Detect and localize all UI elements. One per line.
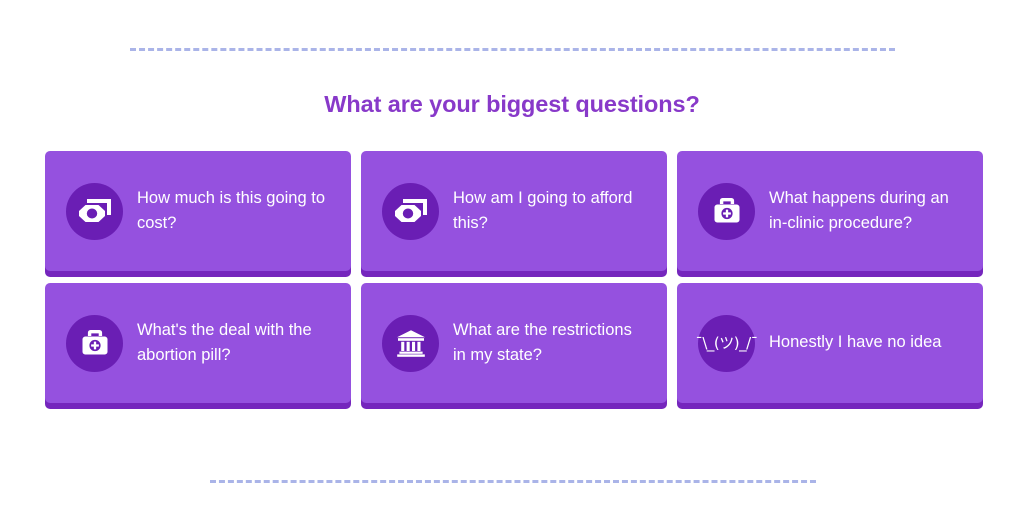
question-card-afford[interactable]: How am I going to afford this?: [361, 151, 667, 271]
question-card-label: What's the deal with the abortion pill?: [137, 318, 332, 368]
bank-building-icon: [382, 315, 439, 372]
question-card-in-clinic[interactable]: What happens during an in-clinic procedu…: [677, 151, 983, 271]
question-card-label: Honestly I have no idea: [769, 330, 941, 355]
question-card-label: How much is this going to cost?: [137, 186, 332, 236]
question-card-cost[interactable]: How much is this going to cost?: [45, 151, 351, 271]
medical-bag-icon: [66, 315, 123, 372]
medical-bag-icon: [698, 183, 755, 240]
bottom-dashed-divider: [210, 480, 816, 483]
shrug-kaomoji-text: ¯\_(ツ)_/¯: [695, 336, 757, 351]
shrug-kaomoji-icon: ¯\_(ツ)_/¯: [698, 315, 755, 372]
money-stack-icon: [66, 183, 123, 240]
question-card-pill[interactable]: What's the deal with the abortion pill?: [45, 283, 351, 403]
question-card-label: How am I going to afford this?: [453, 186, 648, 236]
page-title: What are your biggest questions?: [0, 91, 1024, 118]
question-card-label: What happens during an in-clinic procedu…: [769, 186, 964, 236]
question-card-restrictions[interactable]: What are the restrictions in my state?: [361, 283, 667, 403]
top-dashed-divider: [130, 48, 895, 51]
money-stack-icon: [382, 183, 439, 240]
question-card-label: What are the restrictions in my state?: [453, 318, 648, 368]
question-card-no-idea[interactable]: ¯\_(ツ)_/¯ Honestly I have no idea: [677, 283, 983, 403]
question-card-grid: How much is this going to cost? How am I…: [45, 151, 985, 403]
